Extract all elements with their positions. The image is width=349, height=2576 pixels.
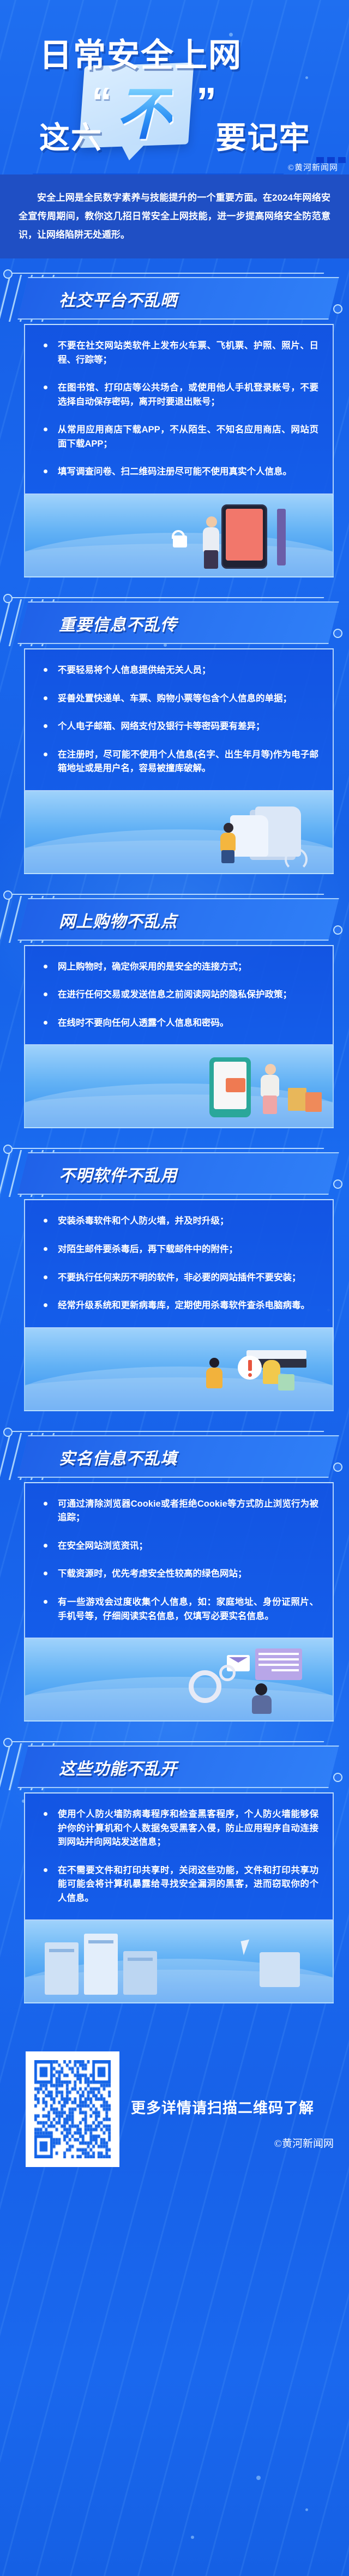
title-suffix: 要记牢 xyxy=(216,121,311,155)
person-illustration xyxy=(260,1064,280,1121)
section-title-prefix: 重要信息 xyxy=(59,616,127,634)
section-header: 这些功能不乱开 xyxy=(0,1740,349,1792)
section-title-keyword: 不乱用 xyxy=(127,1167,177,1185)
section-header: 网上购物不乱点 xyxy=(0,893,349,945)
infographic-page: 日常安全上网 这六 要记牢 “ ” 不 ©黄河新闻网 安全上网是全民数字素养与技… xyxy=(0,0,349,2576)
bullet-item: 在不需要文件和打印共享时，关闭这些功能，文件和打印共享功能可能会将计算机暴露给寻… xyxy=(39,1864,318,1906)
qr-code[interactable] xyxy=(26,2051,119,2167)
illustration-person-at-computer-alert xyxy=(24,1328,334,1411)
bullet-list: 不要轻易将个人信息提供给无关人员；妥善处置快递单、车票、购物小票等包含个人信息的… xyxy=(39,664,318,776)
footer-cta-text: 更多详情请扫描二维码了解 xyxy=(131,2096,314,2117)
bullet-item: 在线时不要向任何人透露个人信息和密码。 xyxy=(39,1016,318,1031)
hero-banner: 日常安全上网 这六 要记牢 “ ” 不 ©黄河新闻网 xyxy=(0,0,349,174)
bullet-item: 使用个人防火墙防病毒程序和检查黑客程序，个人防火墙能够保护你的计算机和个人数据免… xyxy=(39,1808,318,1850)
section-title: 这些功能不乱开 xyxy=(59,1755,177,1779)
bullet-list: 安装杀毒软件和个人防火墙，并及时升级；对陌生邮件要杀毒后，再下载邮件中的附件；不… xyxy=(39,1214,318,1313)
bullet-item: 在进行任何交易或发送信息之前阅读网站的隐私保护政策； xyxy=(39,988,318,1002)
section-important-info: 重要信息不乱传 不要轻易将个人信息提供给无关人员；妥善处置快递单、车票、购物小票… xyxy=(0,596,349,880)
section-title: 重要信息不乱传 xyxy=(59,611,177,635)
quote-close-glyph: ” xyxy=(196,82,216,122)
bullet-list: 可通过清除浏览器Cookie或者拒绝Cookie等方式防止浏览行为被追踪；在安全… xyxy=(39,1497,318,1623)
header-dot-right xyxy=(333,1179,342,1189)
section-title-prefix: 这些功能 xyxy=(59,1760,127,1778)
section-title-keyword: 不乱点 xyxy=(127,913,177,931)
section-header: 重要信息不乱传 xyxy=(0,596,349,648)
section-card: 不要轻易将个人信息提供给无关人员；妥善处置快递单、车票、购物小票等包含个人信息的… xyxy=(24,648,334,791)
header-ribbon-line xyxy=(12,894,324,895)
hero-credit: ©黄河新闻网 xyxy=(288,161,338,173)
qr-code-canvas xyxy=(34,2060,111,2158)
header-dot-right xyxy=(333,629,342,638)
bullet-item: 不要在社交网站类软件上发布火车票、飞机票、护照、照片、日程、行踪等； xyxy=(39,339,318,367)
bullet-list: 使用个人防火墙防病毒程序和检查黑客程序，个人防火墙能够保护你的计算机和个人数据免… xyxy=(39,1808,318,1905)
person-illustration xyxy=(219,823,237,863)
header-dot-left xyxy=(3,890,13,900)
header-dot-right xyxy=(333,1773,342,1782)
person-illustration xyxy=(251,1683,273,1714)
header-ribbon-line xyxy=(12,1148,324,1149)
illustration-person-with-wifi-folders xyxy=(24,791,334,874)
section-social-platform: 社交平台不乱晒 不要在社交网站类软件上发布火车票、飞机票、护照、照片、日程、行踪… xyxy=(0,272,349,583)
header-dot-right xyxy=(333,1462,342,1472)
bullet-item: 可通过清除浏览器Cookie或者拒绝Cookie等方式防止浏览行为被追踪； xyxy=(39,1497,318,1525)
header-dot-right xyxy=(333,925,342,935)
illustration-servers-and-cursor xyxy=(24,1921,334,2003)
section-card: 不要在社交网站类软件上发布火车票、飞机票、护照、照片、日程、行踪等；在图书馆、打… xyxy=(24,324,334,495)
keyword-bu-highlight: 不 xyxy=(116,86,172,143)
header-ribbon-line xyxy=(12,597,324,598)
section-unknown-software: 不明软件不乱用 安装杀毒软件和个人防火墙，并及时升级；对陌生邮件要杀毒后，再下载… xyxy=(0,1147,349,1416)
section-card: 安装杀毒软件和个人防火墙，并及时升级；对陌生邮件要杀毒后，再下载邮件中的附件；不… xyxy=(24,1199,334,1328)
section-title: 不明软件不乱用 xyxy=(59,1162,177,1186)
bullet-item: 对陌生邮件要杀毒后，再下载邮件中的附件； xyxy=(39,1243,318,1257)
header-dot-left xyxy=(3,594,13,603)
section-realname-info: 实名信息不乱填 可通过清除浏览器Cookie或者拒绝Cookie等方式防止浏览行… xyxy=(0,1430,349,1727)
section-title-prefix: 实名信息 xyxy=(59,1450,127,1468)
section-header: 不明软件不乱用 xyxy=(0,1147,349,1199)
bullet-list: 不要在社交网站类软件上发布火车票、飞机票、护照、照片、日程、行踪等；在图书馆、打… xyxy=(39,339,318,479)
section-title-keyword: 不乱填 xyxy=(127,1450,177,1468)
bullet-item: 填写调查问卷、扫二维码注册尽可能不使用真实个人信息。 xyxy=(39,465,318,479)
header-ribbon-line xyxy=(12,1431,324,1432)
bullet-item: 有一些游戏会过度收集个人信息，如：家庭地址、身份证照片、手机号等，仔细阅读实名信… xyxy=(39,1596,318,1623)
header-dot-left xyxy=(3,1428,13,1437)
quote-open-glyph: “ xyxy=(92,82,112,122)
illustration-person-with-phone-lock xyxy=(24,495,334,577)
bullet-item: 网上购物时，确定你采用的是安全的连接方式； xyxy=(39,960,318,974)
section-header: 实名信息不乱填 xyxy=(0,1430,349,1482)
section-title-keyword: 不乱开 xyxy=(127,1760,177,1778)
bullet-item: 不要轻易将个人信息提供给无关人员； xyxy=(39,664,318,678)
title-prefix: 这六 xyxy=(39,121,103,155)
page-title-line1: 日常安全上网 xyxy=(39,39,312,72)
illustration-person-with-mail-gears xyxy=(24,1639,334,1722)
bullet-item: 个人电子邮箱、网络支付及银行卡等密码要有差异； xyxy=(39,720,318,734)
section-title: 网上购物不乱点 xyxy=(59,908,177,932)
section-card: 使用个人防火墙防病毒程序和检查黑客程序，个人防火墙能够保护你的计算机和个人数据免… xyxy=(24,1792,334,1921)
section-title: 实名信息不乱填 xyxy=(59,1445,177,1469)
bullet-item: 下载资源时，优先考虑安全性较高的绿色网站； xyxy=(39,1567,318,1581)
section-title-prefix: 社交平台 xyxy=(59,292,127,310)
page-title-line2: 这六 要记牢 xyxy=(39,123,323,153)
section-header: 社交平台不乱晒 xyxy=(0,272,349,324)
footer-credit: ©黄河新闻网 xyxy=(274,2135,334,2150)
bullet-item: 在图书馆、打印店等公共场合，或使用他人手机登录账号，不要选择自动保存密码，离开时… xyxy=(39,381,318,409)
section-card: 可通过清除浏览器Cookie或者拒绝Cookie等方式防止浏览行为被追踪；在安全… xyxy=(24,1482,334,1639)
intro-paragraph: 安全上网是全民数字素养与技能提升的一个重要方面。在2024年网络安全宣传周期间，… xyxy=(19,189,330,244)
section-title-prefix: 不明软件 xyxy=(59,1167,127,1185)
bullet-item: 经常升级系统和更新病毒库，定期使用杀毒软件查杀电脑病毒。 xyxy=(39,1299,318,1313)
bullet-list: 网上购物时，确定你采用的是安全的连接方式；在进行任何交易或发送信息之前阅读网站的… xyxy=(39,960,318,1031)
section-online-shopping: 网上购物不乱点 网上购物时，确定你采用的是安全的连接方式；在进行任何交易或发送信… xyxy=(0,893,349,1134)
bullet-item: 妥善处置快递单、车票、购物小票等包含个人信息的单据； xyxy=(39,692,318,706)
bullet-item: 安装杀毒软件和个人防火墙，并及时升级； xyxy=(39,1214,318,1229)
section-title-prefix: 网上购物 xyxy=(59,913,127,931)
phone-illustration xyxy=(221,504,267,569)
illustration-shopper-with-phone-bags xyxy=(24,1045,334,1128)
header-dot-right xyxy=(333,304,342,314)
header-dot-left xyxy=(3,1738,13,1747)
section-title: 社交平台不乱晒 xyxy=(59,287,177,311)
bullet-item: 不要执行任何来历不明的软件，非必要的网站插件不要安装； xyxy=(39,1271,318,1285)
section-title-keyword: 不乱晒 xyxy=(127,292,177,310)
person-illustration xyxy=(205,1358,224,1401)
sections-container: 社交平台不乱晒 不要在社交网站类软件上发布火车票、飞机票、护照、照片、日程、行踪… xyxy=(0,272,349,2009)
cursor-icon xyxy=(240,1940,252,1955)
header-ribbon-line xyxy=(12,273,324,274)
bullet-item: 在安全网站浏览资讯； xyxy=(39,1539,318,1554)
header-dot-left xyxy=(3,269,13,279)
intro-panel: 安全上网是全民数字素养与技能提升的一个重要方面。在2024年网络安全宣传周期间，… xyxy=(0,174,349,258)
footer-banner: 更多详情请扫描二维码了解 ©黄河新闻网 xyxy=(0,2042,349,2175)
section-features-toggle: 这些功能不乱开 使用个人防火墙防病毒程序和检查黑客程序，个人防火墙能够保护你的计… xyxy=(0,1740,349,2009)
person-illustration xyxy=(202,516,220,569)
section-title-keyword: 不乱传 xyxy=(127,616,177,634)
header-ribbon-line xyxy=(12,1741,324,1742)
bullet-item: 在注册时，尽可能不使用个人信息(名字、出生年月等)作为电子邮箱地址或是用户名，容… xyxy=(39,748,318,776)
section-card: 网上购物时，确定你采用的是安全的连接方式；在进行任何交易或发送信息之前阅读网站的… xyxy=(24,945,334,1046)
bullet-item: 从常用应用商店下载APP，不从陌生、不知名应用商店、网站页面下载APP； xyxy=(39,423,318,451)
